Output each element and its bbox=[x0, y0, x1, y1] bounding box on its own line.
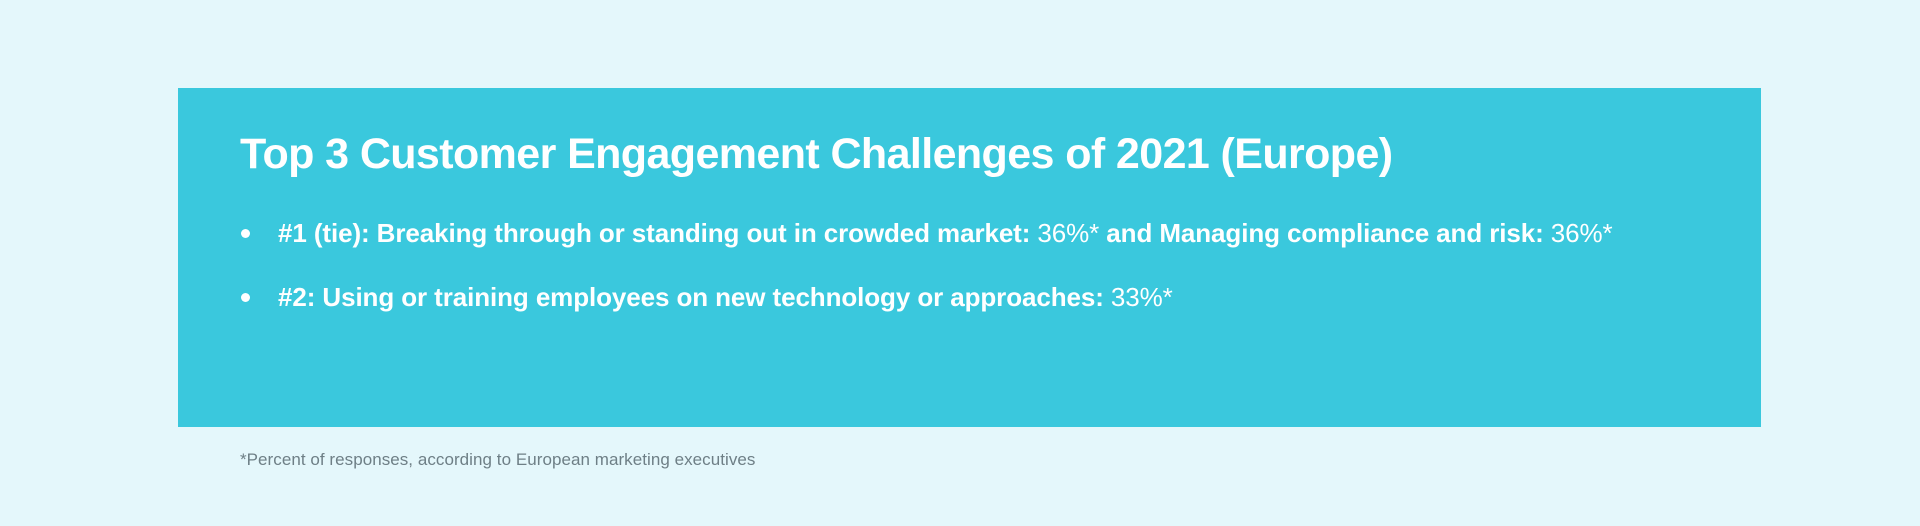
challenge-label: #2: Using or training employees on new t… bbox=[278, 282, 1111, 312]
page-title: Top 3 Customer Engagement Challenges of … bbox=[240, 130, 1393, 178]
footnote: *Percent of responses, according to Euro… bbox=[240, 450, 755, 470]
infographic-page: Top 3 Customer Engagement Challenges of … bbox=[0, 0, 1920, 526]
list-item: #1 (tie): Breaking through or standing o… bbox=[233, 216, 1721, 250]
challenge-label: #1 (tie): Breaking through or standing o… bbox=[278, 218, 1037, 248]
list-item-text: #1 (tie): Breaking through or standing o… bbox=[278, 216, 1721, 250]
bullet-dot-icon bbox=[241, 293, 250, 302]
bullet-dot-icon bbox=[241, 229, 250, 238]
challenge-value: 36%* bbox=[1037, 218, 1099, 248]
list-item-text: #2: Using or training employees on new t… bbox=[278, 280, 1721, 314]
challenges-bullet-list: #1 (tie): Breaking through or standing o… bbox=[233, 216, 1721, 315]
challenge-value: 33%* bbox=[1111, 282, 1173, 312]
challenges-callout-card: Top 3 Customer Engagement Challenges of … bbox=[178, 88, 1761, 427]
list-item: #2: Using or training employees on new t… bbox=[233, 280, 1721, 314]
challenge-value-secondary: 36%* bbox=[1551, 218, 1613, 248]
challenge-label-secondary: and Managing compliance and risk: bbox=[1099, 218, 1551, 248]
